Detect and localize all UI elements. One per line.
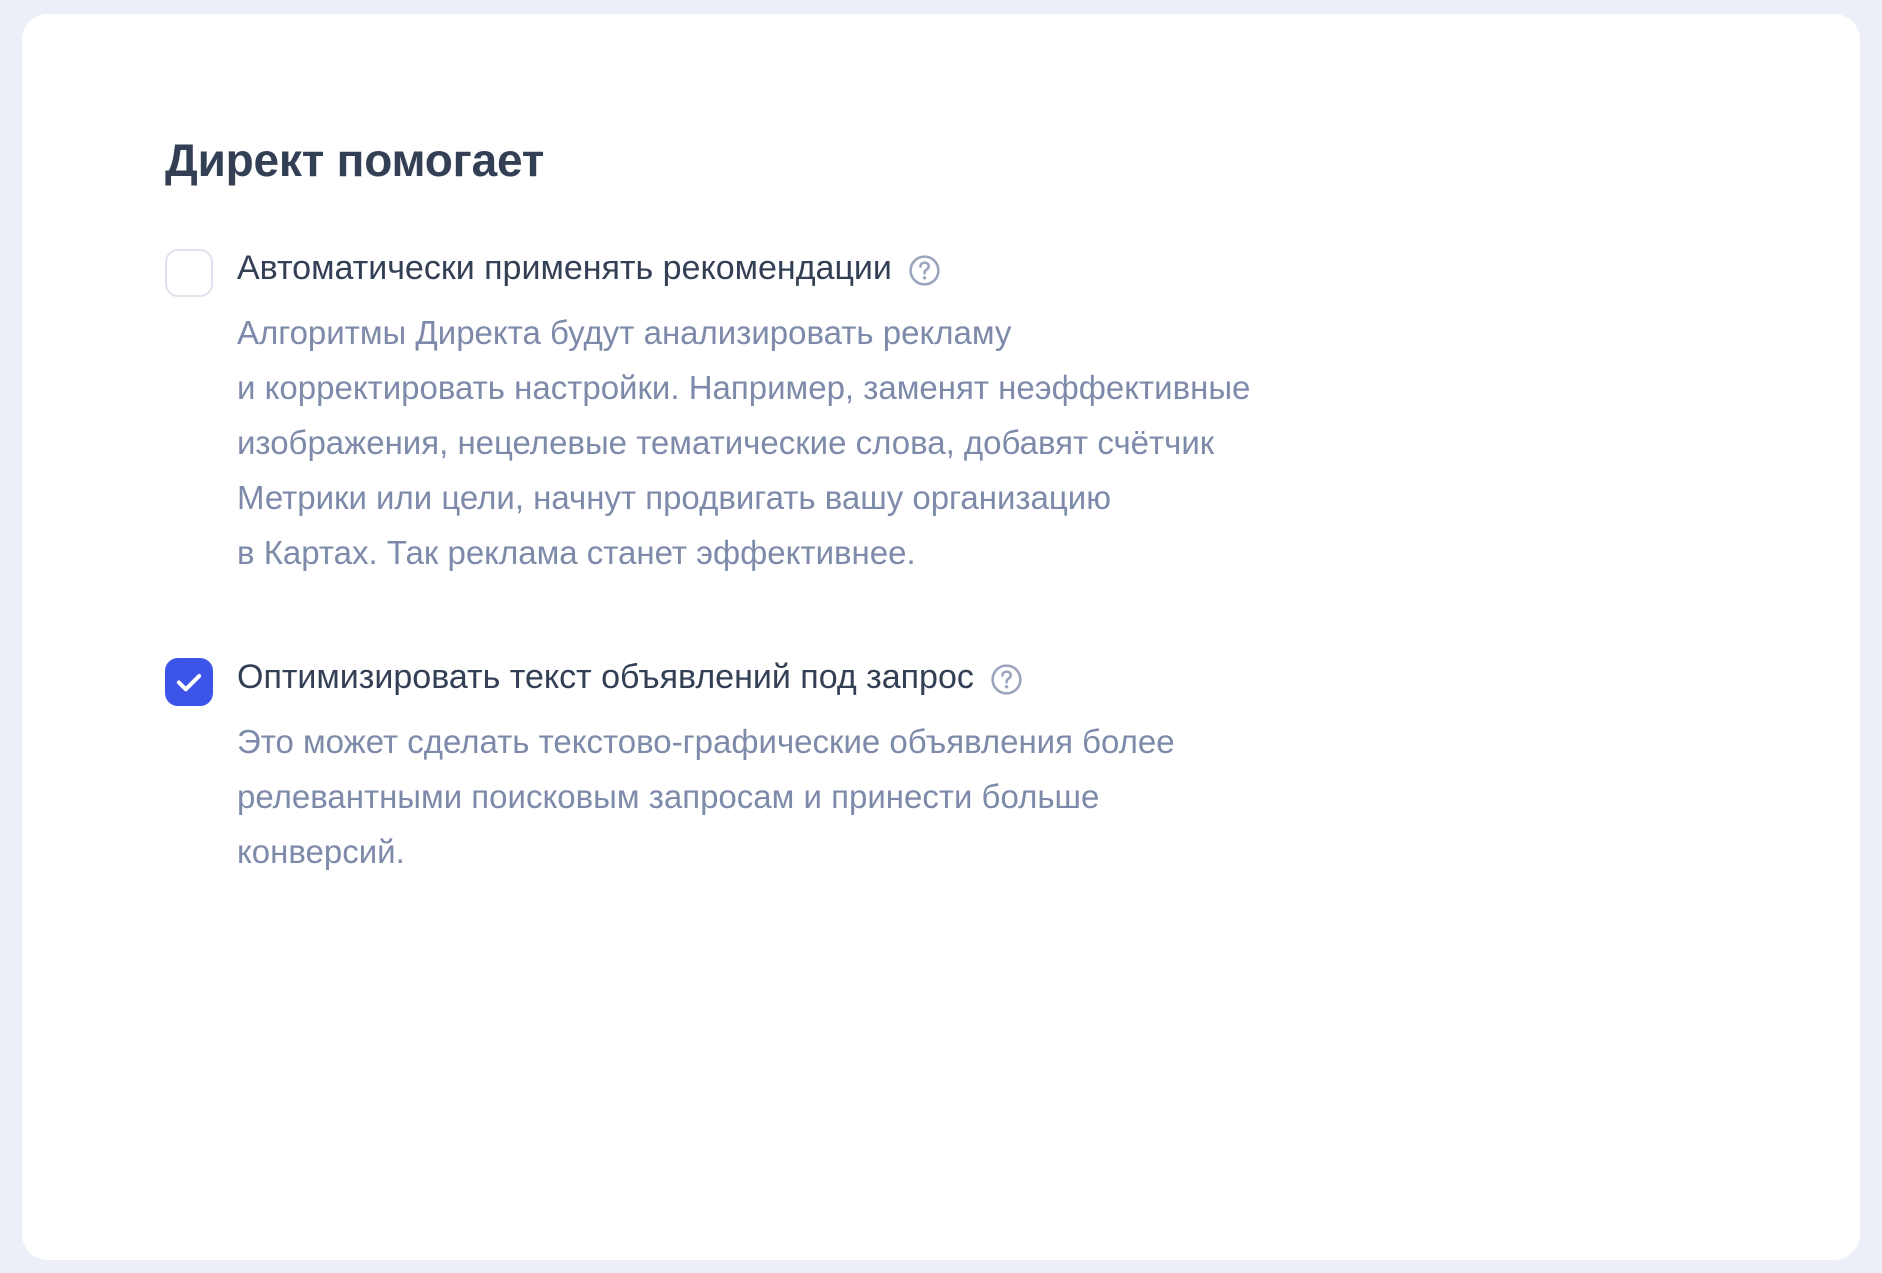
description-line: в Картах. Так реклама станет эффективнее… — [237, 525, 1697, 580]
description-line: и корректировать настройки. Например, за… — [237, 360, 1697, 415]
option-label-line: Автоматически применять рекомендации — [237, 244, 1800, 292]
options-list: Автоматически применять рекомендации Алг… — [165, 244, 1800, 879]
option-description-optimize-ad-text-for-query: Это может сделать текстово-графические о… — [237, 714, 1697, 879]
page-background: Директ помогает Автоматически применять … — [0, 0, 1882, 1273]
checkmark-icon — [167, 660, 211, 704]
option-label-auto-apply-recommendations[interactable]: Автоматически применять рекомендации — [237, 247, 892, 289]
description-line: релевантными поисковым запросам и принес… — [237, 769, 1697, 824]
question-mark-circle-icon[interactable] — [990, 663, 1023, 696]
page-title: Директ помогает — [165, 132, 1800, 188]
checkbox-optimize-ad-text-for-query[interactable] — [165, 658, 213, 706]
description-line: Метрики или цели, начнут продвигать вашу… — [237, 470, 1697, 525]
description-line: Алгоритмы Директа будут анализировать ре… — [237, 305, 1697, 360]
description-line: изображения, нецелевые тематические слов… — [237, 415, 1697, 470]
option-label-optimize-ad-text-for-query[interactable]: Оптимизировать текст объявлений под запр… — [237, 656, 974, 698]
option-row-optimize-ad-text-for-query: Оптимизировать текст объявлений под запр… — [165, 653, 1800, 879]
direct-helps-card: Директ помогает Автоматически применять … — [22, 14, 1860, 1260]
option-row-auto-apply-recommendations: Автоматически применять рекомендации Алг… — [165, 244, 1800, 580]
option-description-auto-apply-recommendations: Алгоритмы Директа будут анализировать ре… — [237, 305, 1697, 580]
description-line: Это может сделать текстово-графические о… — [237, 714, 1697, 769]
description-line: конверсий. — [237, 824, 1697, 879]
checkbox-auto-apply-recommendations[interactable] — [165, 249, 213, 297]
option-label-line: Оптимизировать текст объявлений под запр… — [237, 653, 1800, 701]
question-mark-circle-icon[interactable] — [908, 254, 941, 287]
